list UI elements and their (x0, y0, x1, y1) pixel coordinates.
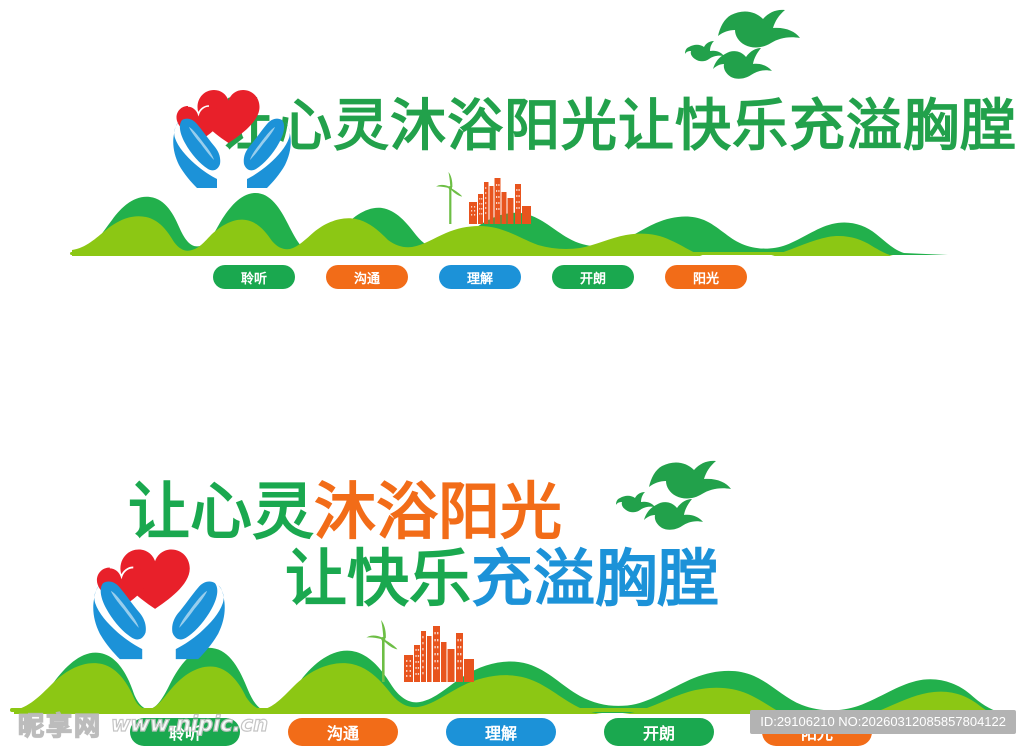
cityscape-bottom (366, 620, 501, 682)
bird-icon-lower-top (713, 48, 773, 88)
pill-lijie[interactable]: 理解 (439, 265, 521, 289)
bird-icon (649, 461, 731, 499)
hill-baseline-bottom (10, 708, 770, 712)
headline-bottom-line2: 让快乐充溢胸膛 (285, 545, 719, 613)
headline-bottom-line1-seg1: 让心灵 (128, 475, 314, 548)
bird-icon-lower-bottom (644, 499, 704, 539)
pill-tingting[interactable]: 聆听 (213, 265, 295, 289)
windmill-icon (366, 620, 397, 682)
headline-bottom-line2-seg1: 让快乐 (285, 542, 471, 615)
headline-bottom-line1-seg2: 沐浴阳光 (314, 475, 562, 548)
hill-baseline-top (70, 252, 835, 255)
hands-holding-heart-logo-bottom (93, 542, 225, 660)
id-badge: ID:29106210 NO:20260312085857804122 (750, 710, 1016, 734)
pill-yangguang[interactable]: 阳光 (665, 265, 747, 289)
cityscape-top (435, 172, 555, 224)
city-buildings (469, 178, 531, 224)
headline-bottom-line2-seg2: 充溢胸膛 (471, 542, 719, 615)
windmill-icon (436, 172, 462, 224)
pill-kailang[interactable]: 开朗 (552, 265, 634, 289)
hands-holding-heart-logo-top (173, 84, 291, 188)
pill-goutong-bottom[interactable]: 沟通 (288, 718, 398, 746)
headline-top: 让心灵沐浴阳光让快乐充溢胸膛 (219, 95, 1017, 159)
poster-canvas: 让心灵沐浴阳光让快乐充溢胸膛 聆听 沟通 理解 开朗 阳光 (0, 0, 1024, 746)
pill-lijie-bottom[interactable]: 理解 (446, 718, 556, 746)
bird-icon (718, 10, 800, 48)
keyword-pills-top: 聆听 沟通 理解 开朗 阳光 (213, 265, 747, 289)
pill-tingting-bottom[interactable]: 聆听 (130, 718, 240, 746)
headline-bottom-line1: 让心灵沐浴阳光 (128, 478, 562, 546)
pill-kailang-bottom[interactable]: 开朗 (604, 718, 714, 746)
top-composition: 让心灵沐浴阳光让快乐充溢胸膛 聆听 沟通 理解 开朗 阳光 (0, 0, 1024, 310)
headline-top-segment: 让心灵沐浴阳光让快乐充溢胸膛 (219, 94, 1017, 159)
pill-goutong[interactable]: 沟通 (326, 265, 408, 289)
city-buildings (404, 626, 474, 682)
